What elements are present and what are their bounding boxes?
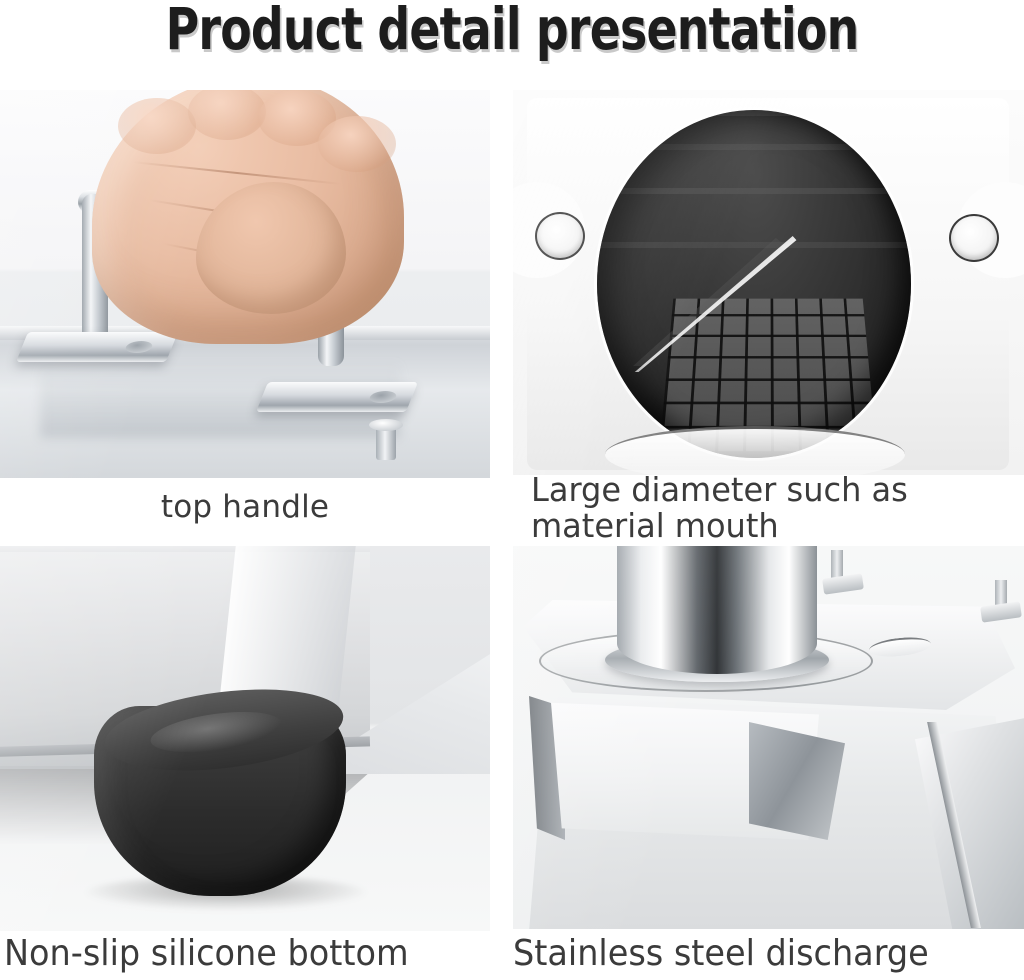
clamp-knob-right [980,601,1022,622]
bore-inner-shadow [597,110,911,458]
finger-crease-1 [132,161,341,185]
knuckle-1 [118,98,196,154]
knuckle-2 [188,90,266,140]
title-band: Product detail presentation [0,0,1024,90]
photo-material-mouth [513,90,1024,475]
handle-mount-right [256,382,418,412]
panel-material-mouth: Large diameter such as material mouth [513,90,1024,550]
photo-discharge-port [513,546,1024,929]
caption-material-mouth: Large diameter such as material mouth [531,472,1009,544]
mount-hole-right [368,391,399,403]
panel-discharge-port: Stainless steel discharge port [513,546,1024,980]
clamp-knob-left [822,573,864,594]
mount-hole-left [124,341,155,353]
feed-bore [597,110,911,458]
knuckle-4 [318,116,396,172]
panel-top-handle: top handle [0,90,490,550]
caption-discharge-port: Stainless steel discharge port [513,931,988,980]
bolt-hole-left [535,212,585,260]
page-title: Product detail presentation [108,0,917,62]
caption-silicone-bottom: Non-slip silicone bottom [4,931,456,977]
bolt-hole-right [949,214,999,262]
feed-tube [617,546,817,674]
caption-top-handle: top handle [0,486,490,528]
panel-silicone-bottom: Non-slip silicone bottom [0,546,490,980]
photo-silicone-bottom [0,546,490,931]
photo-top-handle [0,90,490,478]
handle-mount-left [16,332,178,362]
plate-screw [376,426,396,460]
bore-bottom-lip [605,426,905,475]
